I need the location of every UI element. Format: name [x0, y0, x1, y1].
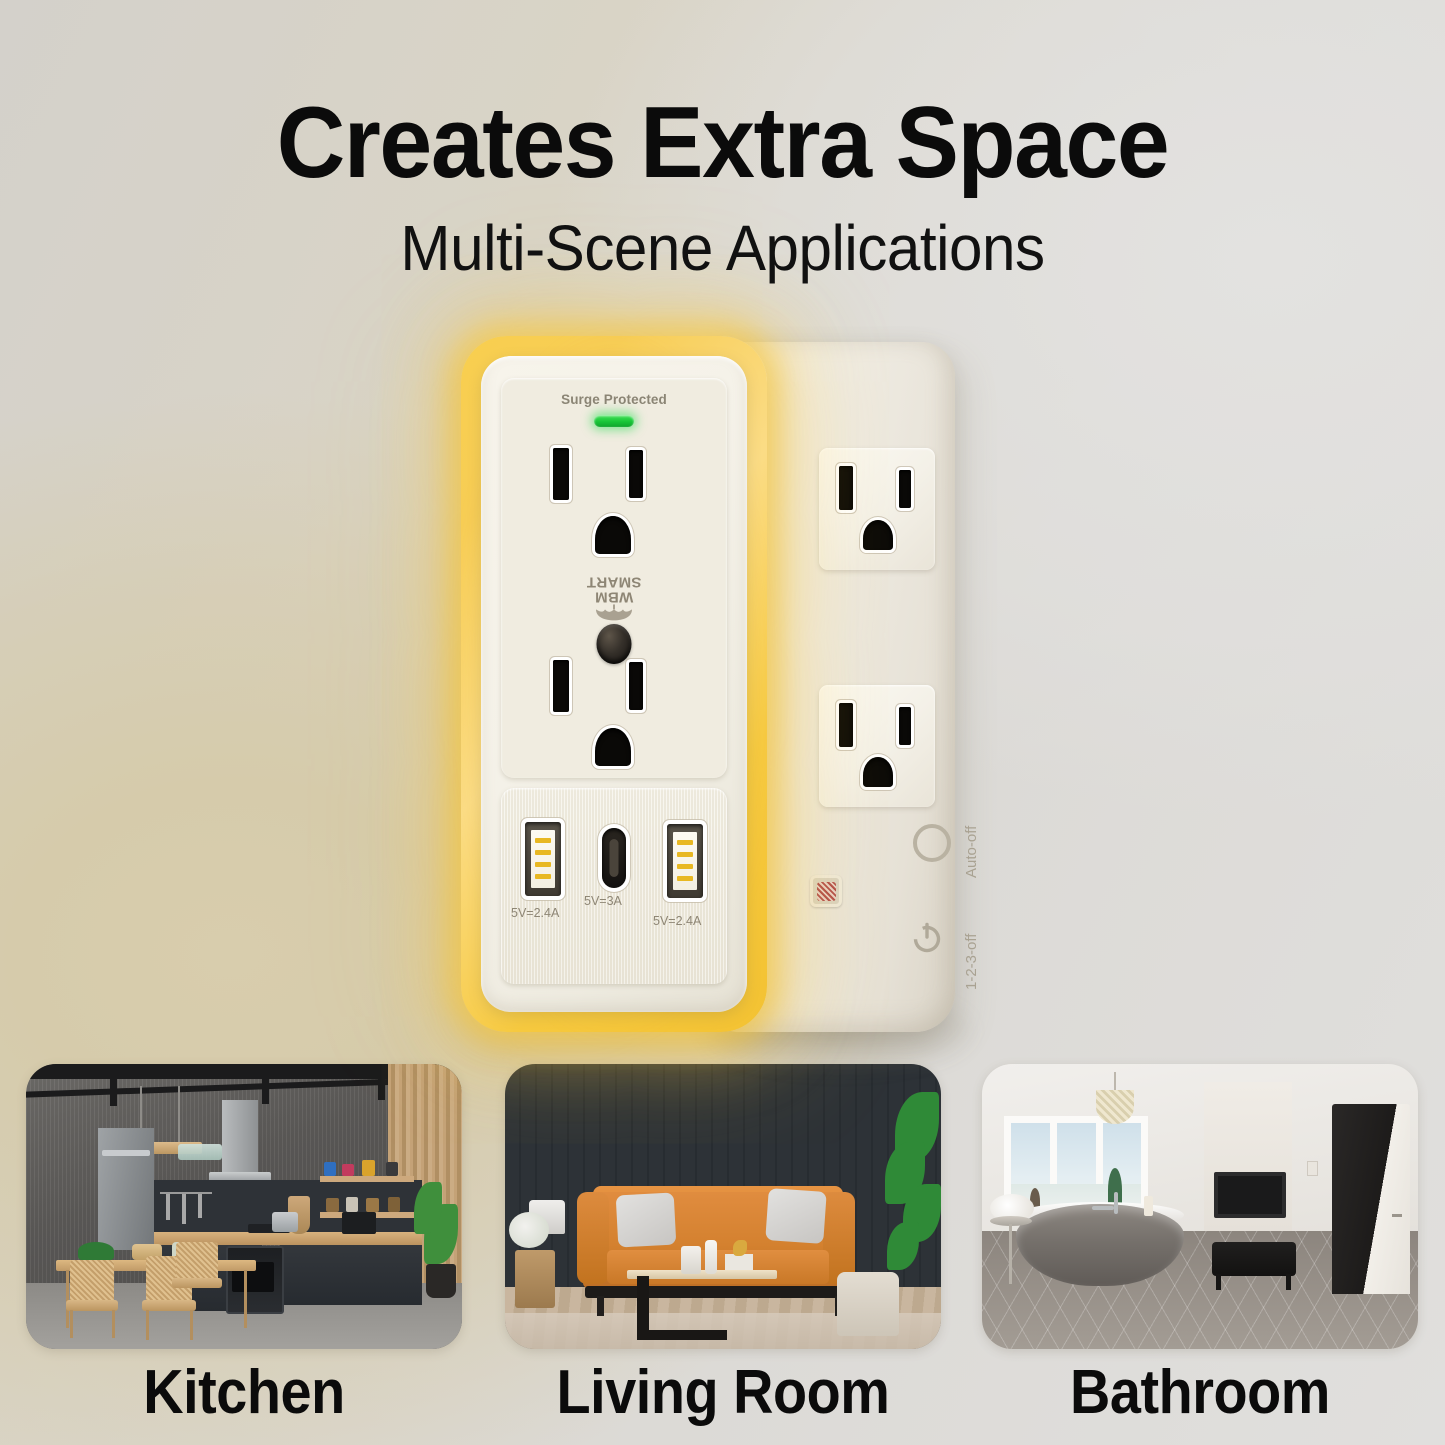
dining-chair-seat — [66, 1300, 118, 1311]
side-table — [515, 1250, 555, 1308]
device-front-face: Surge Protected WBM SMART — [455, 330, 777, 1040]
ceiling-beam — [262, 1064, 269, 1104]
usb-pin — [677, 864, 693, 869]
shelf-item — [324, 1162, 336, 1176]
table-leg — [244, 1270, 247, 1328]
sofa-arm-left — [577, 1192, 609, 1284]
front-faceplate: Surge Protected WBM SMART — [501, 378, 727, 778]
outlet-hot-blade — [899, 707, 911, 745]
coffee-table-leg — [637, 1276, 649, 1338]
page-title: Creates Extra Space — [43, 0, 1401, 195]
product-image: Auto-off 1-2-3-off Surge Protected — [455, 330, 995, 1060]
outlet-ground-pin — [863, 520, 893, 550]
shelf-jar — [326, 1198, 339, 1212]
table-vase — [681, 1246, 701, 1274]
usb-c-rating: 5V=3A — [584, 894, 622, 908]
table-sculpture — [733, 1240, 747, 1256]
outlet-neutral-blade — [553, 660, 569, 712]
bench-leg — [1286, 1274, 1291, 1290]
brand-mark: WBM SMART — [559, 574, 669, 621]
chair-leg — [190, 1310, 193, 1340]
usb-c-port — [602, 828, 626, 888]
brand-line-2: SMART — [559, 574, 669, 589]
wall-shelf — [320, 1176, 414, 1182]
outlet-hot-blade — [629, 662, 643, 710]
scene-caption-living-room: Living Room — [527, 1357, 919, 1428]
coffee-table-top — [627, 1270, 777, 1279]
coffee-table-foot — [637, 1330, 727, 1340]
usb-pin — [535, 850, 551, 855]
range-hood — [222, 1100, 258, 1178]
usb-pin — [535, 874, 551, 879]
usb-a-left-rating: 5V=2.4A — [511, 906, 559, 920]
shelf-jar — [388, 1197, 400, 1212]
shelf-item — [362, 1160, 375, 1176]
page-subtitle: Multi-Scene Applications — [43, 195, 1401, 285]
light-sensor-icon — [913, 824, 951, 862]
shelf-item — [386, 1162, 398, 1176]
ceiling-beam — [110, 1064, 117, 1106]
reset-button[interactable] — [597, 624, 632, 664]
utensil — [166, 1194, 170, 1220]
stacked-books — [725, 1254, 753, 1270]
chair-leg — [146, 1310, 149, 1340]
doorway — [1332, 1104, 1410, 1294]
warning-sticker-inner — [817, 882, 836, 901]
draped-ottoman — [837, 1272, 899, 1336]
scene-card-kitchen: Kitchen — [26, 1064, 462, 1428]
warning-sticker-icon — [810, 875, 842, 907]
ceiling-beam — [378, 1064, 385, 1100]
table-leg — [66, 1270, 69, 1328]
mode-cycle-label: 1-2-3-off — [963, 934, 980, 990]
shelf-jar — [366, 1198, 379, 1212]
tub-candle — [1144, 1196, 1153, 1216]
surge-protected-label: Surge Protected — [501, 392, 727, 407]
dining-chair-back — [176, 1242, 218, 1282]
usb-faceplate: 5V=2.4A 5V=3A 5V=2.4A — [501, 788, 727, 984]
front-bezel: Surge Protected WBM SMART — [481, 356, 747, 1012]
scene-caption-kitchen: Kitchen — [48, 1357, 440, 1428]
door-handle — [1392, 1214, 1402, 1217]
coffee-machine — [342, 1212, 376, 1234]
throw-pillow — [765, 1188, 826, 1244]
bathroom-photo — [982, 1064, 1418, 1349]
usb-tongue — [673, 832, 697, 890]
scene-caption-bathroom: Bathroom — [1004, 1357, 1396, 1428]
side-outlet-top — [819, 448, 935, 570]
black-bench — [1212, 1242, 1296, 1276]
outlet-hot-blade — [899, 470, 911, 508]
usb-pin — [535, 838, 551, 843]
plant-stand-pole — [1009, 1224, 1012, 1284]
plant-pot — [426, 1264, 456, 1298]
usb-pin — [677, 876, 693, 881]
dining-chair-back — [70, 1260, 114, 1304]
outlet-ground-pin — [595, 516, 631, 554]
pendant-cord — [178, 1086, 180, 1144]
pendant-cord — [1114, 1072, 1116, 1092]
flower-arrangement — [509, 1212, 549, 1248]
scene-card-bathroom: Bathroom — [982, 1064, 1418, 1428]
outlet-neutral-blade — [553, 448, 569, 500]
shelf-item — [342, 1164, 354, 1176]
table-plant — [78, 1242, 114, 1260]
usb-a-port-right — [667, 824, 703, 898]
wall-switch — [1308, 1162, 1317, 1175]
usb-pin — [677, 852, 693, 857]
tub-faucet — [1114, 1192, 1118, 1214]
throw-pillow — [616, 1193, 677, 1248]
bench-leg — [1216, 1274, 1221, 1290]
dining-chair-seat — [142, 1300, 196, 1311]
table-bottle — [705, 1240, 717, 1274]
kitchen-photo — [26, 1064, 462, 1349]
living-room-photo — [505, 1064, 941, 1349]
outlet-hot-blade — [629, 450, 643, 498]
outlet-neutral-blade — [839, 703, 853, 747]
side-outlet-bottom — [819, 685, 935, 807]
shelf-jar — [346, 1197, 358, 1212]
fireplace — [1214, 1172, 1286, 1218]
headings-block: Creates Extra Space Multi-Scene Applicat… — [0, 0, 1445, 285]
usb-pin — [535, 862, 551, 867]
sofa-leg — [597, 1296, 604, 1316]
dining-chair-seat — [172, 1278, 222, 1288]
scene-card-living-room: Living Room — [505, 1064, 941, 1428]
power-icon[interactable] — [910, 920, 944, 954]
usb-a-right-rating: 5V=2.4A — [653, 914, 701, 928]
outlet-ground-pin — [595, 728, 631, 766]
surge-status-led — [594, 415, 634, 427]
chair-leg — [70, 1310, 73, 1338]
kettle — [272, 1212, 298, 1232]
usb-pin — [677, 840, 693, 845]
tub-spout — [1092, 1206, 1114, 1210]
refrigerator — [98, 1128, 154, 1250]
usb-a-port-left — [525, 822, 561, 896]
crystal-pendant-light — [1096, 1090, 1134, 1124]
fridge-handle — [102, 1150, 150, 1156]
outlet-ground-pin — [863, 757, 893, 787]
brand-line-1: WBM — [559, 589, 669, 604]
base-cabinet — [280, 1245, 422, 1305]
usb-tongue — [531, 830, 555, 888]
scene-cards: Kitchen — [0, 1064, 1445, 1445]
chair-leg — [112, 1310, 115, 1338]
outlet-neutral-blade — [839, 466, 853, 510]
utensil — [182, 1194, 186, 1224]
utensil — [198, 1194, 202, 1218]
sofa-base — [585, 1286, 851, 1298]
pendant-glass-shade — [178, 1144, 222, 1160]
auto-off-label: Auto-off — [963, 826, 980, 878]
umbrella-icon — [594, 604, 634, 621]
